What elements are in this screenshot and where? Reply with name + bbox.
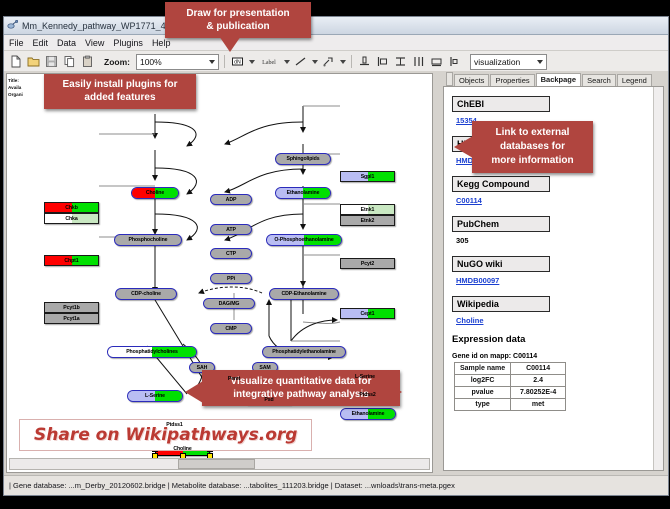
backpage-vscrollbar[interactable] bbox=[653, 87, 663, 470]
pathvisio-icon bbox=[7, 20, 18, 31]
label-icon[interactable]: Label bbox=[258, 54, 280, 69]
node-label: Chpt1 bbox=[64, 258, 78, 264]
gene-node-etnk2[interactable]: Etnk2 bbox=[340, 215, 395, 226]
callout-draw-line2: & publication bbox=[173, 20, 303, 33]
backpage-header-nugo: NuGO wiki bbox=[452, 256, 550, 272]
datanode-icon[interactable]: dN bbox=[230, 54, 245, 69]
metabolite-node-adp[interactable]: ADP bbox=[210, 194, 252, 205]
tab-search[interactable]: Search bbox=[582, 74, 616, 86]
gene-node-pcyt1b[interactable]: Pcyt1b bbox=[44, 302, 99, 313]
callout-draw: Draw for presentation & publication bbox=[165, 2, 311, 38]
new-file-icon[interactable] bbox=[8, 54, 23, 69]
gene-id-line: Gene id on mapp: C00114 bbox=[452, 353, 663, 360]
application-window: Mm_Kennedy_pathway_WP1771_45176.gpml Fil… bbox=[3, 16, 669, 496]
cell-sample-name-label: Sample name bbox=[455, 363, 511, 375]
table-row: log2FC 2.4 bbox=[455, 375, 566, 387]
receptor-dropdown-icon[interactable] bbox=[340, 60, 346, 64]
callout-links-arrow bbox=[454, 136, 473, 158]
node-label: Pcyt1a bbox=[63, 316, 79, 322]
metabolite-node-ppi[interactable]: PPi bbox=[210, 273, 252, 284]
backpage-header-chebi: ChEBI bbox=[452, 96, 550, 112]
expression-data-title: Expression data bbox=[452, 334, 663, 345]
paste-icon[interactable] bbox=[80, 54, 95, 69]
backpage-header-wikipedia: Wikipedia bbox=[452, 296, 550, 312]
open-folder-icon[interactable] bbox=[26, 54, 41, 69]
side-panel: Objects Properties Backpage Search Legen… bbox=[437, 73, 666, 473]
backpage-link-kegg[interactable]: C00114 bbox=[456, 196, 663, 205]
node-label: O-Phosphoethanolamine bbox=[274, 237, 333, 243]
menu-bar: File Edit Data View Plugins Help bbox=[4, 35, 668, 51]
gene-node-chka[interactable]: Chka bbox=[44, 213, 99, 224]
table-row: pvalue 7.80252E-4 bbox=[455, 387, 566, 399]
node-label: CDP-Ethanolamine bbox=[281, 291, 326, 297]
cell-log2fc-value: 2.4 bbox=[511, 375, 566, 387]
metabolite-node-ethanolamine[interactable]: Ethanolamine bbox=[340, 408, 396, 420]
visualization-combobox[interactable]: visualization bbox=[470, 54, 547, 70]
node-label: Pcyt2 bbox=[361, 261, 374, 267]
gene-node-sgpl1[interactable]: Sgpl1 bbox=[340, 171, 395, 182]
line-dropdown-icon[interactable] bbox=[312, 60, 318, 64]
canvas-hscroll-thumb[interactable] bbox=[178, 459, 255, 469]
node-label: L-Serine bbox=[145, 393, 165, 399]
metabolite-node-phosphatidylcholines[interactable]: Phosphatidylcholines bbox=[107, 346, 197, 358]
align-left-icon[interactable] bbox=[375, 54, 390, 69]
cell-type-label: type bbox=[455, 399, 511, 411]
toolbar-separator bbox=[224, 55, 225, 68]
callout-links-line2: databases for bbox=[480, 140, 585, 154]
node-label: Cept1 bbox=[361, 311, 375, 317]
group-icon[interactable] bbox=[429, 54, 444, 69]
node-label: Phosphatidylethanolamine bbox=[272, 349, 336, 355]
cell-log2fc-label: log2FC bbox=[455, 375, 511, 387]
metabolite-node-ethanolamine[interactable]: Ethanolamine bbox=[275, 187, 331, 199]
gene-node-chkb[interactable]: Chkb bbox=[44, 202, 99, 213]
backpage-header-kegg: Kegg Compound bbox=[452, 176, 550, 192]
node-label: Ethanolamine bbox=[352, 411, 385, 417]
backpage-header-pubchem: PubChem bbox=[452, 216, 550, 232]
tab-legend[interactable]: Legend bbox=[617, 74, 652, 86]
tab-scroll-left[interactable] bbox=[446, 72, 453, 86]
chevron-down-icon bbox=[209, 60, 215, 64]
save-icon[interactable] bbox=[44, 54, 59, 69]
tab-objects[interactable]: Objects bbox=[454, 74, 489, 86]
node-label: Ptdss1 bbox=[166, 422, 182, 428]
svg-text:dN: dN bbox=[234, 59, 241, 65]
menu-view[interactable]: View bbox=[85, 38, 104, 48]
tab-properties[interactable]: Properties bbox=[490, 74, 534, 86]
node-label: Ethanolamine bbox=[287, 190, 320, 196]
node-label: ATP bbox=[226, 227, 236, 233]
menu-edit[interactable]: Edit bbox=[33, 38, 49, 48]
gene-node-etnk1[interactable]: Etnk1 bbox=[340, 204, 395, 215]
metabolite-node-ctp[interactable]: CTP bbox=[210, 248, 252, 259]
status-text: | Gene database: ...m_Derby_20120602.bri… bbox=[9, 481, 455, 490]
status-bar: | Gene database: ...m_Derby_20120602.bri… bbox=[4, 475, 668, 495]
metabolite-node-phosphocholine[interactable]: Phosphocholine bbox=[114, 234, 182, 246]
node-label: Pemt bbox=[228, 376, 240, 382]
copy-icon[interactable] bbox=[62, 54, 77, 69]
node-label: Chkb bbox=[65, 205, 78, 211]
table-row: Sample name C00114 bbox=[455, 363, 566, 375]
callout-plugins: Easily install plugins for added feature… bbox=[44, 73, 196, 109]
expression-table: Sample name C00114 log2FC 2.4 pvalue 7.8… bbox=[454, 362, 566, 411]
callout-visualize-arrow-right bbox=[384, 381, 402, 403]
pathway-drawing[interactable]: Title: Availa Organi bbox=[7, 74, 432, 472]
node-label: SAH bbox=[197, 365, 208, 371]
node-label: PPi bbox=[227, 276, 235, 282]
cell-type-value: met bbox=[511, 399, 566, 411]
pathway-canvas[interactable]: Title: Availa Organi bbox=[6, 73, 433, 473]
node-label: CMP bbox=[225, 326, 236, 332]
node-label: Etnk2 bbox=[361, 218, 375, 224]
callout-links-line3: more information bbox=[480, 154, 585, 168]
node-label: Phosphocholine bbox=[129, 237, 168, 243]
align-top-icon[interactable] bbox=[357, 54, 372, 69]
gene-node-pcyt1a[interactable]: Pcyt1a bbox=[44, 313, 99, 324]
metabolite-node-atp[interactable]: ATP bbox=[210, 224, 252, 235]
backpage-link-nugo[interactable]: HMDB00097 bbox=[456, 276, 663, 285]
metabolite-node-dag-mg[interactable]: DAG/MG bbox=[203, 298, 255, 309]
datanode-dropdown-icon[interactable] bbox=[249, 60, 255, 64]
toolbar-separator-2 bbox=[351, 55, 352, 68]
cell-pvalue-value: 7.80252E-4 bbox=[511, 387, 566, 399]
cell-sample-name-value: C00114 bbox=[511, 363, 566, 375]
distribute-h-icon[interactable] bbox=[411, 54, 426, 69]
metabolite-node-cmp[interactable]: CMP bbox=[210, 323, 252, 334]
node-label: Chka bbox=[65, 216, 77, 222]
node-label: Phosphatidylcholines bbox=[126, 349, 178, 355]
node-label: CTP bbox=[226, 251, 236, 257]
metabolite-node-cdp-ethanolamine[interactable]: CDP-Ethanolamine bbox=[269, 288, 339, 300]
node-label: Choline bbox=[146, 190, 164, 196]
tool-bar: Zoom: 100% dN Label bbox=[4, 51, 668, 73]
callout-links-line1: Link to external bbox=[480, 126, 585, 140]
zoom-label: Zoom: bbox=[104, 57, 130, 67]
distribute-v-icon[interactable] bbox=[393, 54, 408, 69]
metabolite-node-o-phosphoethanolamine[interactable]: O-Phosphoethanolamine bbox=[266, 234, 342, 246]
callout-draw-arrow bbox=[219, 36, 241, 52]
side-panel-tabs: Objects Properties Backpage Search Legen… bbox=[437, 73, 666, 86]
metabolite-node-phosphatidylethanolamine[interactable]: Phosphatidylethanolamine bbox=[262, 346, 346, 358]
backpage-value-pubchem: 305 bbox=[456, 236, 663, 245]
node-label: Sphingolipids bbox=[287, 156, 320, 162]
share-banner-text: Share on Wikipathways.org bbox=[34, 425, 297, 445]
tab-backpage[interactable]: Backpage bbox=[536, 73, 581, 86]
metabolite-node-l-serine[interactable]: L-Serine bbox=[127, 390, 183, 402]
label-dropdown-icon[interactable] bbox=[284, 60, 290, 64]
gene-node-pcyt2[interactable]: Pcyt2 bbox=[340, 258, 395, 269]
table-row: type met bbox=[455, 399, 566, 411]
menu-help[interactable]: Help bbox=[152, 38, 171, 48]
main-body: Title: Availa Organi bbox=[4, 71, 668, 475]
callout-plugins-line2: added features bbox=[52, 91, 188, 104]
node-label: Ptdss2 bbox=[359, 392, 375, 398]
node-label: DAG/MG bbox=[219, 301, 240, 307]
node-label: Psd bbox=[264, 397, 273, 403]
line-icon[interactable] bbox=[293, 54, 308, 69]
metabolite-node-sphingolipids[interactable]: Sphingolipids bbox=[275, 153, 331, 165]
callout-draw-line1: Draw for presentation bbox=[173, 7, 303, 20]
backpage-link-wikipedia[interactable]: Choline bbox=[456, 316, 663, 325]
callout-links: Link to external databases for more info… bbox=[472, 121, 593, 173]
gene-node-chpt1[interactable]: Chpt1 bbox=[44, 255, 99, 266]
visualization-value: visualization bbox=[474, 57, 520, 67]
svg-text:Label: Label bbox=[262, 60, 276, 66]
callout-visualize-arrow bbox=[185, 381, 203, 403]
order-icon[interactable] bbox=[447, 54, 462, 69]
callout-plugins-line1: Easily install plugins for bbox=[52, 78, 188, 91]
menu-file[interactable]: File bbox=[9, 38, 24, 48]
node-label: Pcyt1b bbox=[63, 305, 79, 311]
menu-data[interactable]: Data bbox=[57, 38, 76, 48]
node-label: L-Serine bbox=[355, 374, 375, 380]
canvas-hscrollbar[interactable] bbox=[9, 458, 430, 470]
gene-node-cept1[interactable]: Cept1 bbox=[340, 308, 395, 319]
node-label: Choline bbox=[173, 446, 191, 452]
receptor-icon[interactable] bbox=[321, 54, 336, 69]
title-bar: Mm_Kennedy_pathway_WP1771_45176.gpml bbox=[4, 17, 668, 35]
node-label: Sgpl1 bbox=[361, 174, 375, 180]
node-label: ADP bbox=[226, 197, 237, 203]
metabolite-node-choline[interactable]: Choline bbox=[131, 187, 179, 199]
menu-plugins[interactable]: Plugins bbox=[113, 38, 143, 48]
node-label: CDP-choline bbox=[131, 291, 161, 297]
chevron-down-icon-2 bbox=[537, 60, 543, 64]
zoom-value: 100% bbox=[140, 57, 162, 67]
node-label: SAM bbox=[259, 365, 270, 371]
screenshot-root: Mm_Kennedy_pathway_WP1771_45176.gpml Fil… bbox=[0, 0, 670, 509]
zoom-combobox[interactable]: 100% bbox=[136, 54, 219, 70]
metabolite-node-cdp-choline[interactable]: CDP-choline bbox=[115, 288, 177, 300]
cell-pvalue-label: pvalue bbox=[455, 387, 511, 399]
node-label: Etnk1 bbox=[361, 207, 375, 213]
